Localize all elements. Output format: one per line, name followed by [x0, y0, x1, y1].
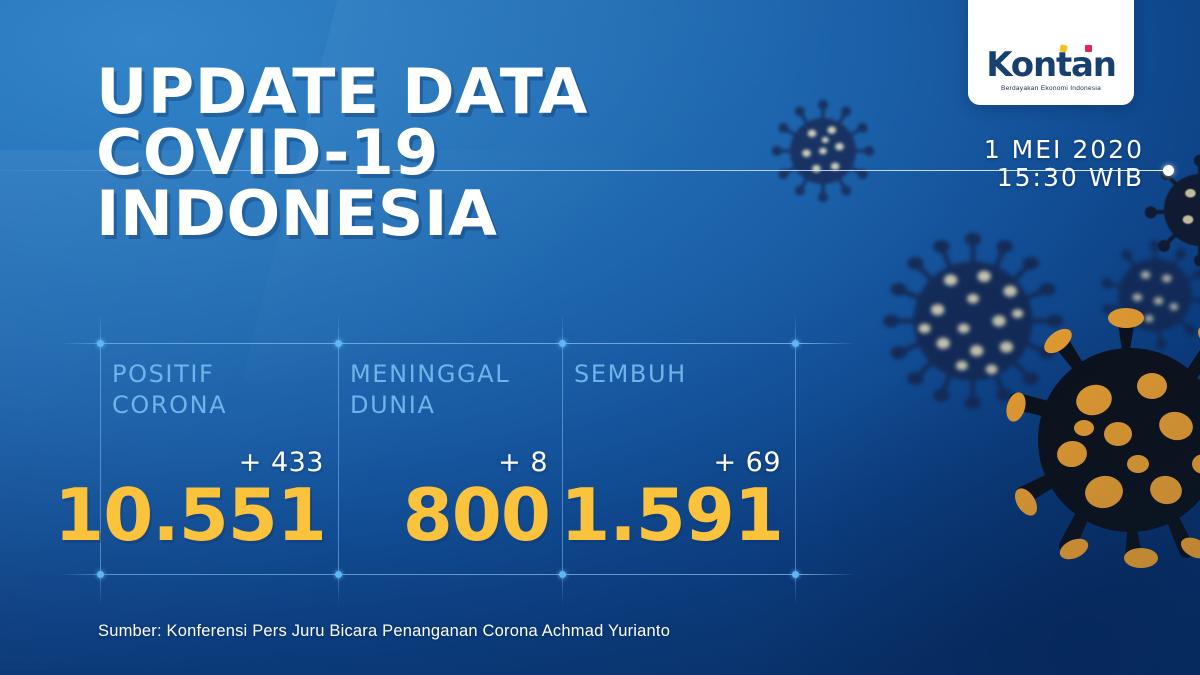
stats-columns: POSITIF CORONA + 433 10.551 MENINGGAL DU…: [62, 343, 852, 575]
datetime-divider-dot: [1163, 165, 1174, 176]
stats-grid: POSITIF CORONA + 433 10.551 MENINGGAL DU…: [62, 343, 852, 575]
kontan-logo[interactable]: Kontan Berdayakan Ekonomi Indonesia: [968, 0, 1134, 105]
logo-tagline: Berdayakan Ekonomi Indonesia: [986, 85, 1116, 92]
title-line-2: COVID-19: [96, 123, 588, 184]
stat-label: POSITIF CORONA: [112, 359, 227, 420]
stat-column-sembuh: SEMBUH + 69 1.591: [574, 343, 795, 575]
logo-square-dot-icon: [1085, 45, 1092, 52]
title-line-1: UPDATE DATA: [96, 62, 588, 123]
stat-value: 10.551: [54, 479, 326, 551]
date-text: 1 MEI 2020: [904, 136, 1144, 164]
time-text: 15:30 WIB: [904, 164, 1144, 192]
infographic-canvas: Kontan Berdayakan Ekonomi Indonesia 1 ME…: [0, 0, 1200, 675]
source-note: Sumber: Konferensi Pers Juru Bicara Pena…: [98, 622, 670, 641]
stat-label: SEMBUH: [574, 359, 687, 390]
page-title: UPDATE DATA COVID-19 INDONESIA: [96, 62, 588, 244]
title-line-3: INDONESIA: [96, 184, 588, 245]
virus-main-icon: [980, 268, 1200, 588]
stat-column-positif-corona: POSITIF CORONA + 433 10.551: [112, 343, 338, 575]
stat-label: MENINGGAL DUNIA: [350, 359, 510, 420]
logo-wordmark: Kontan: [986, 48, 1116, 82]
stat-column-meninggal-dunia: MENINGGAL DUNIA + 8 800: [350, 343, 562, 575]
datetime-block: 1 MEI 2020 15:30 WIB: [904, 136, 1144, 192]
stat-value: 1.591: [560, 479, 783, 551]
logo-wordmark-wrap: Kontan Berdayakan Ekonomi Indonesia: [986, 48, 1116, 92]
stat-value: 800: [403, 479, 550, 551]
virus-particle-icon: [768, 96, 878, 206]
